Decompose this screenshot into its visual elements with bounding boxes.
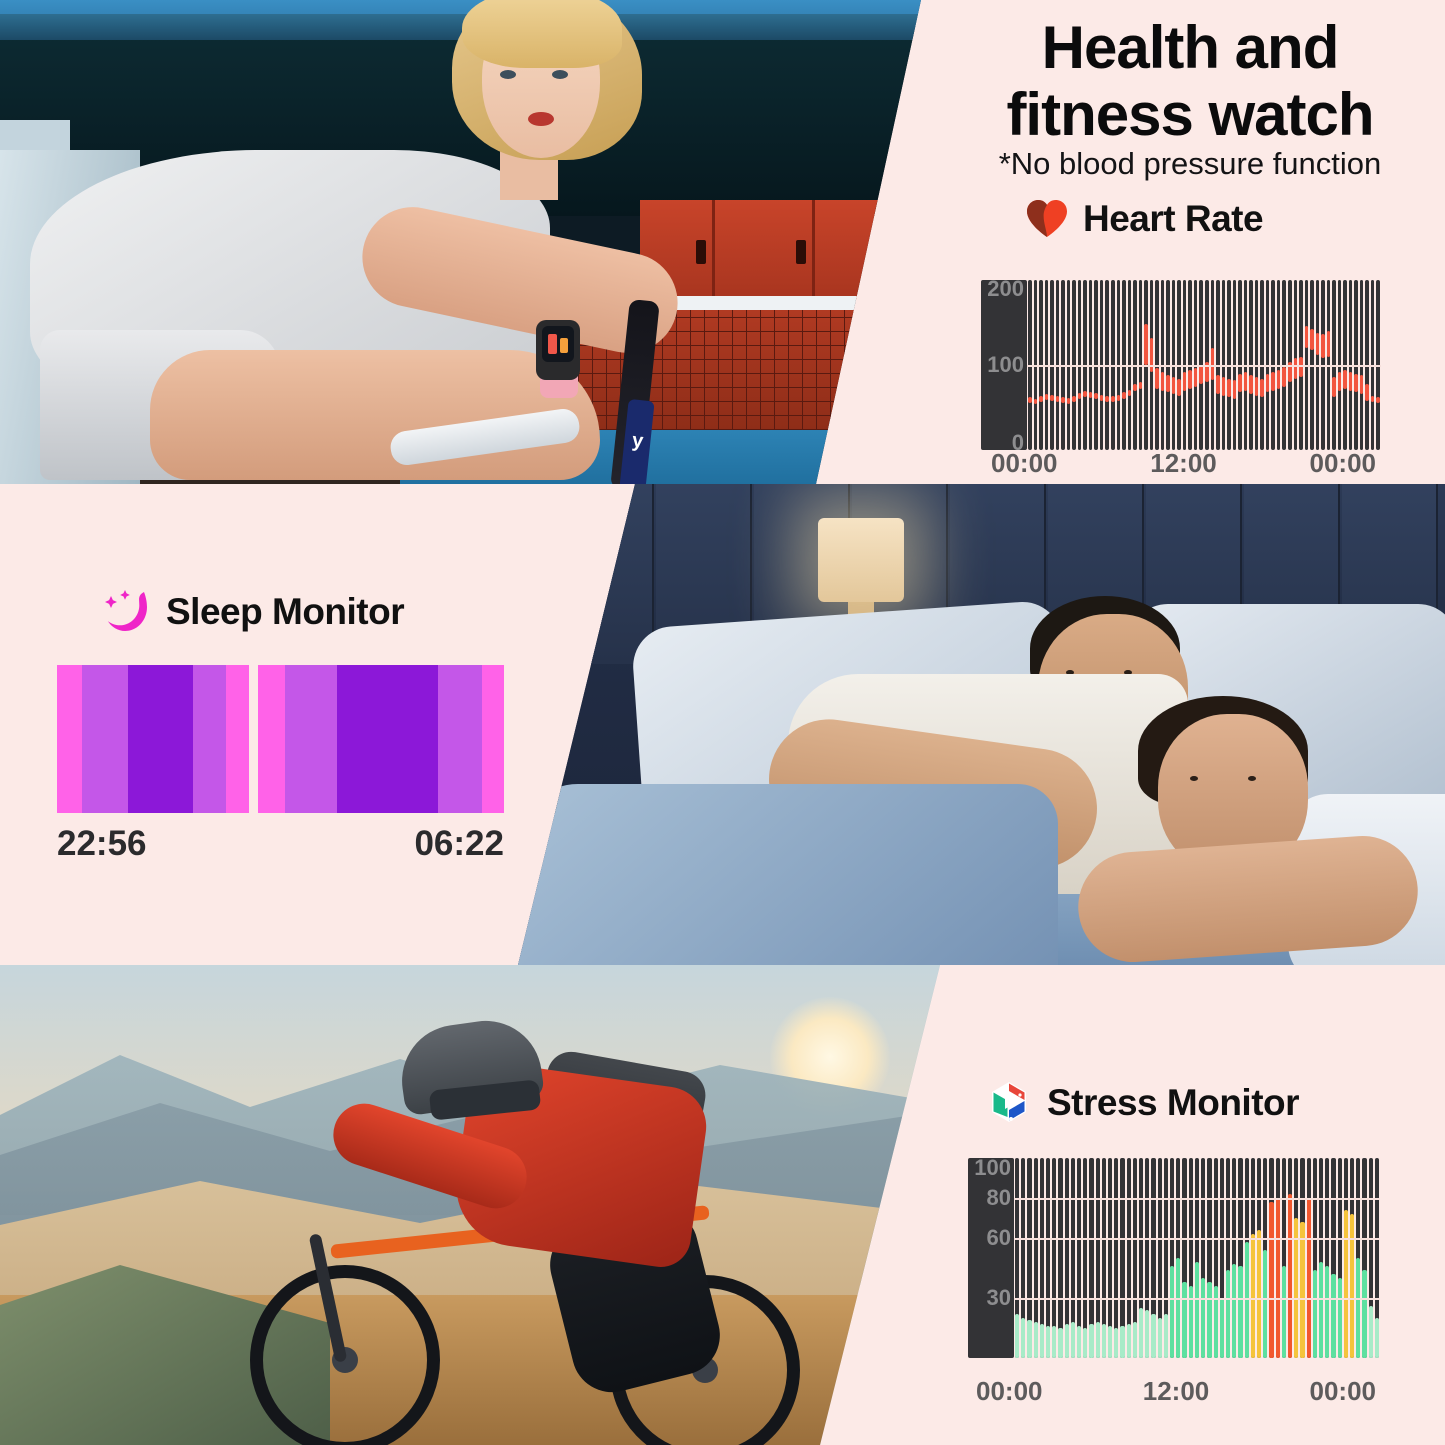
bar-value-segment [1046, 1326, 1050, 1358]
bar-value-segment [1300, 1222, 1304, 1358]
bar-value-segment [1105, 396, 1109, 402]
x-tick-label-0: 00:00 [976, 1378, 1043, 1404]
bar-value-segment [1271, 372, 1275, 391]
bar-value-segment [1100, 395, 1104, 401]
bedside-lamp [818, 518, 904, 602]
stress-section-title: Stress Monitor [985, 1078, 1299, 1126]
bar-value-segment [1045, 394, 1049, 400]
heart-rate-gridline-100 [1027, 365, 1381, 367]
bar-value-segment [1195, 1262, 1199, 1358]
player-hair-front [462, 0, 622, 68]
bar-value-segment [1176, 1258, 1180, 1358]
y-tick-30: 30 [987, 1287, 1011, 1309]
bar-value-segment [1288, 1194, 1292, 1358]
sleep-block-gap [249, 665, 258, 813]
bar-value-segment [1094, 393, 1098, 399]
bar-value-segment [1331, 1274, 1335, 1358]
x-tick-label-0: 00:00 [991, 450, 1058, 476]
duvet-fold [518, 784, 1058, 965]
woman-eye-left [1190, 776, 1198, 781]
bar-value-segment [1151, 1314, 1155, 1358]
sleep-section-title: Sleep Monitor [100, 586, 404, 636]
bar-value-segment [1127, 1324, 1131, 1358]
bar-value-segment [1027, 1320, 1031, 1358]
sleep-segment-awake [482, 665, 504, 813]
bar-value-segment [1199, 365, 1203, 384]
bar-value-segment [1266, 374, 1270, 393]
bar-value-segment [1249, 375, 1253, 394]
bar-value-segment [1122, 392, 1126, 399]
heart-rate-chart: 0100200 [981, 280, 1381, 450]
y-tick-80: 80 [987, 1187, 1011, 1209]
stress-chart: 306080100 [968, 1158, 1380, 1358]
bar-value-segment [1155, 368, 1159, 388]
stress-gridline-80 [1014, 1198, 1380, 1200]
sleep-block [57, 665, 249, 813]
bar-value-segment [1139, 382, 1143, 389]
bar-value-segment [1139, 1308, 1143, 1358]
bar-value-segment [1108, 1326, 1112, 1358]
y-tick-200: 200 [987, 278, 1024, 300]
bar-value-segment [1238, 374, 1242, 393]
bar-value-segment [1257, 1230, 1261, 1358]
photo-mountain-cyclist [0, 965, 940, 1445]
heart-rate-label: Heart Rate [1083, 200, 1263, 237]
bar-value-segment [1040, 1324, 1044, 1358]
bar-value-segment [1111, 396, 1115, 402]
bar-value-segment [1117, 395, 1121, 401]
bar-value-segment [1260, 379, 1264, 398]
y-tick-60: 60 [987, 1227, 1011, 1249]
sleep-segment-awake [258, 665, 285, 813]
bar-value-segment [1277, 370, 1281, 389]
bar-value-segment [1282, 367, 1286, 387]
bar-value-segment [1349, 372, 1353, 391]
stress-y-axis: 306080100 [968, 1158, 1014, 1358]
smartwatch-screen-bar-red [548, 334, 557, 354]
sleep-time-range: 22:56 06:22 [57, 826, 504, 861]
bar-value-segment [1332, 377, 1336, 397]
sleep-segment-light [438, 665, 482, 813]
bar-value-segment [1338, 1278, 1342, 1358]
sleep-stage-bar [57, 665, 504, 813]
heart-rate-y-axis: 0100200 [981, 280, 1027, 450]
bar-value-segment [1183, 372, 1187, 391]
bar-value-segment [1316, 333, 1320, 355]
bar-value-segment [1269, 1202, 1273, 1358]
sleep-segment-light [193, 665, 226, 813]
bar-value-segment [1164, 1314, 1168, 1358]
bar-value-segment [1050, 395, 1054, 401]
bar-value-segment [1360, 375, 1364, 394]
sleep-segment-deep [128, 665, 193, 813]
bar-value-segment [1144, 324, 1148, 365]
bar-value-segment [1232, 1264, 1236, 1358]
bar-value-segment [1015, 1314, 1019, 1358]
bar-value-segment [1244, 372, 1248, 391]
stress-label: Stress Monitor [1047, 1084, 1299, 1121]
bar-value-segment [1214, 1286, 1218, 1358]
stress-bars [1014, 1158, 1380, 1358]
bar-value-segment [1067, 398, 1071, 404]
bar-value-segment [1255, 377, 1259, 396]
bar-value-segment [1039, 396, 1043, 402]
bar-value-segment [1222, 377, 1226, 396]
bar-value-segment [1362, 1270, 1366, 1358]
bar-value-segment [1307, 1198, 1311, 1358]
stress-bar [1374, 1158, 1380, 1358]
bar-value-segment [1133, 384, 1137, 391]
bar-value-segment [1319, 1262, 1323, 1358]
bar-value-segment [1325, 1266, 1329, 1358]
photo-tennis-player: y [0, 0, 925, 484]
bar-value-segment [1251, 1234, 1255, 1358]
bar-value-segment [1120, 1326, 1124, 1358]
bar-value-segment [1189, 1286, 1193, 1358]
bar-value-segment [1177, 379, 1181, 396]
sleep-label: Sleep Monitor [166, 593, 404, 630]
x-tick-label-2: 00:00 [1310, 450, 1377, 476]
bar-value-segment [1207, 1282, 1211, 1358]
bar-value-segment [1158, 1318, 1162, 1358]
smartwatch-screen-bar-orange [560, 338, 568, 353]
heart-rate-x-axis-labels: 00:0012:0000:00 [991, 450, 1376, 476]
hexagon-stress-icon [985, 1078, 1033, 1126]
bar-value-segment [1021, 1318, 1025, 1358]
woman-arm [1075, 832, 1422, 965]
bar-value-segment [1170, 1266, 1174, 1358]
stress-gridline-30 [1014, 1298, 1380, 1300]
bar-value-segment [1263, 1250, 1267, 1358]
bar-value-segment [1321, 334, 1325, 358]
x-tick-label-1: 12:00 [1150, 450, 1217, 476]
bar-value-segment [1052, 1326, 1056, 1358]
woman-eye-right [1248, 776, 1256, 781]
sleep-segment-awake [57, 665, 82, 813]
bar-value-segment [1166, 375, 1170, 392]
bar-value-segment [1313, 1270, 1317, 1358]
bar-value-segment [1233, 380, 1237, 399]
bar-value-segment [1294, 358, 1298, 378]
player-eye-left [500, 70, 516, 79]
sleep-segment-awake [226, 665, 249, 813]
bar-value-segment [1245, 1242, 1249, 1358]
bar-value-segment [1061, 397, 1065, 403]
bar-value-segment [1276, 1198, 1280, 1358]
heart-icon [1025, 198, 1069, 238]
sleep-segment-deep [337, 665, 438, 813]
bar-value-segment [1071, 1322, 1075, 1358]
bar-value-segment [1028, 397, 1032, 403]
x-tick-label-2: 00:00 [1310, 1378, 1377, 1404]
bar-value-segment [1188, 370, 1192, 389]
y-tick-0: 0 [1012, 432, 1024, 454]
bar-value-segment [1058, 1328, 1062, 1358]
bar-value-segment [1161, 372, 1165, 391]
bar-value-segment [1343, 370, 1347, 389]
bar-value-segment [1310, 329, 1314, 349]
bar-value-segment [1034, 1322, 1038, 1358]
stress-gridline-60 [1014, 1238, 1380, 1240]
bar-value-segment [1227, 379, 1231, 398]
player-eye-right [552, 70, 568, 79]
player-lips [528, 112, 554, 126]
bar-value-segment [1077, 1326, 1081, 1358]
y-tick-100: 100 [974, 1157, 1011, 1179]
bar-value-segment [1282, 1266, 1286, 1358]
bar-value-segment [1096, 1322, 1100, 1358]
sleep-segment-light [82, 665, 128, 813]
bar-value-segment [1078, 393, 1082, 399]
tennis-grip-logo: y [631, 429, 644, 453]
bar-value-segment [1128, 390, 1132, 397]
bar-value-segment [1220, 1298, 1224, 1358]
bar-value-segment [1083, 1328, 1087, 1358]
heart-rate-section-title: Heart Rate [1025, 198, 1263, 238]
tennis-lockers [640, 200, 925, 300]
bar-value-segment [1182, 1282, 1186, 1358]
smartwatch-screen [542, 326, 574, 362]
bar-value-segment [1089, 1324, 1093, 1358]
bar-value-segment [1114, 1328, 1118, 1358]
bar-value-segment [1201, 1278, 1205, 1358]
bar-value-segment [1369, 1306, 1373, 1358]
bar-value-segment [1305, 326, 1309, 348]
bar-value-segment [1102, 1324, 1106, 1358]
bar-value-segment [1133, 1322, 1137, 1358]
sleep-end-time: 06:22 [414, 826, 504, 861]
bar-value-segment [1350, 1214, 1354, 1358]
sleep-start-time: 22:56 [57, 826, 147, 861]
bar-value-segment [1354, 374, 1358, 393]
bar-value-segment [1072, 396, 1076, 402]
page-title: Health and fitness watch [945, 14, 1435, 148]
poster-root: y [0, 0, 1445, 1445]
bar-value-segment [1344, 1210, 1348, 1358]
bar-value-segment [1365, 384, 1369, 401]
sleep-segment-light [285, 665, 337, 813]
stress-x-axis-labels: 00:0012:0000:00 [976, 1378, 1376, 1404]
crescent-moon-icon [100, 586, 152, 636]
bar-value-segment [1375, 1318, 1379, 1358]
bar-value-segment [1034, 399, 1038, 404]
x-tick-label-1: 12:00 [1143, 1378, 1210, 1404]
bar-value-segment [1226, 1270, 1230, 1358]
bar-value-segment [1327, 331, 1331, 357]
bar-value-segment [1356, 1258, 1360, 1358]
bar-value-segment [1065, 1324, 1069, 1358]
sleep-block [258, 665, 504, 813]
y-tick-100: 100 [987, 354, 1024, 376]
bar-value-segment [1338, 372, 1342, 391]
bar-value-segment [1238, 1266, 1242, 1358]
bar-value-segment [1194, 368, 1198, 387]
disclaimer-text: *No blood pressure function [945, 145, 1435, 182]
bar-value-segment [1172, 377, 1176, 394]
bar-value-segment [1145, 1310, 1149, 1358]
photo-sleeping-couple [518, 484, 1445, 965]
bar-value-segment [1216, 375, 1220, 394]
bar-value-segment [1083, 391, 1087, 397]
